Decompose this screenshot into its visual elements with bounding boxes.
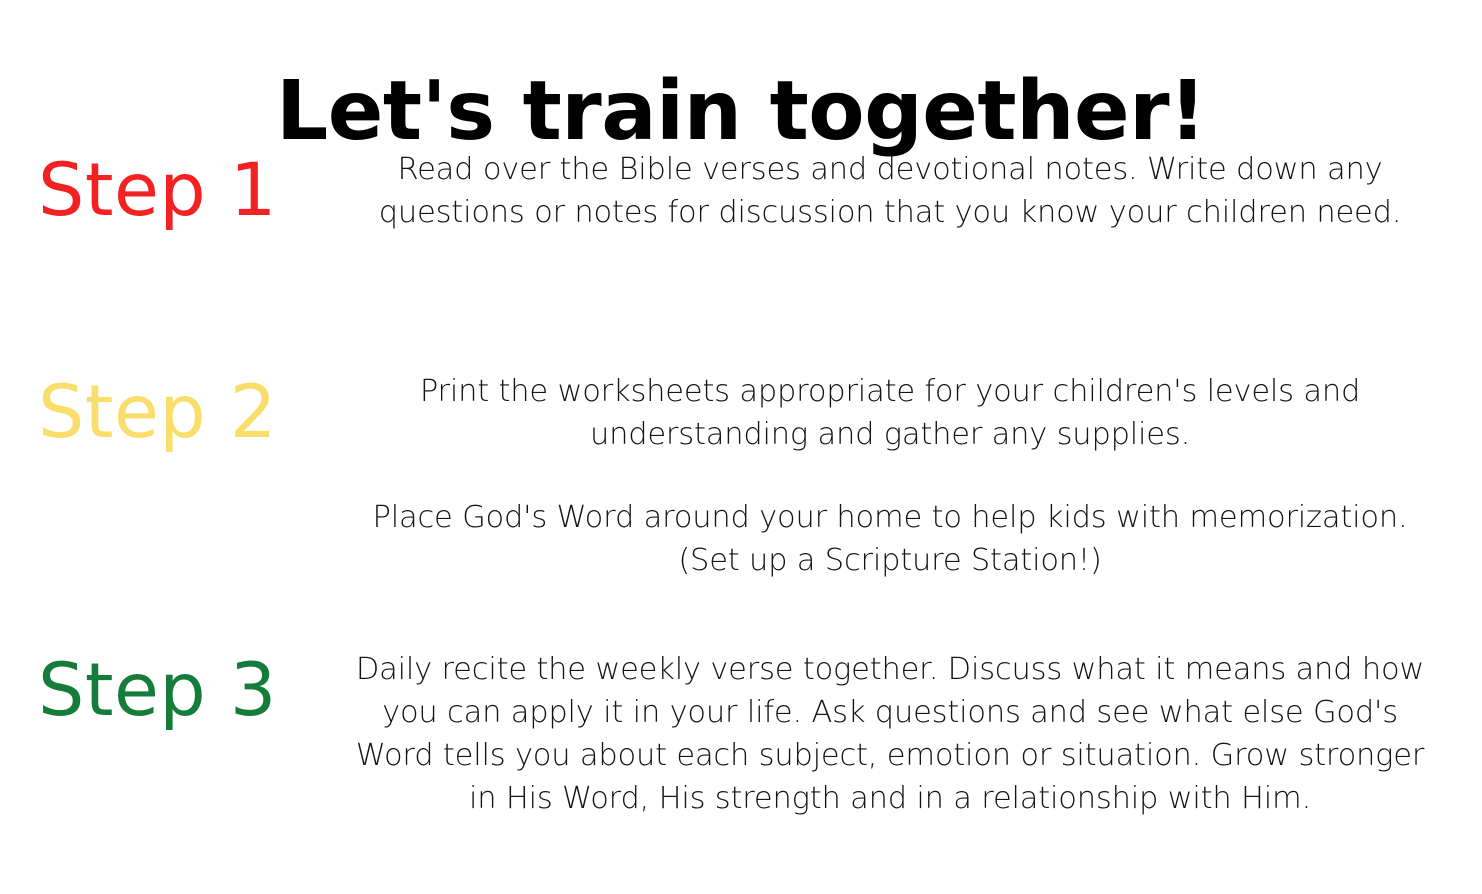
step-row-2: Step 2 Print the worksheets appropriate … <box>0 370 1482 582</box>
step-row-1: Step 1 Read over the Bible verses and de… <box>0 148 1482 234</box>
step-3-body: Daily recite the weekly verse together. … <box>340 648 1482 820</box>
step-2-label: Step 2 <box>38 376 340 449</box>
step-1-body: Read over the Bible verses and devotiona… <box>340 148 1482 234</box>
step-1-label-cell: Step 1 <box>0 148 340 227</box>
step-2-paragraph-2: Place God's Word around your home to hel… <box>340 496 1440 582</box>
step-3-label: Step 3 <box>38 654 340 727</box>
step-1-label: Step 1 <box>38 154 340 227</box>
step-3-paragraph-1: Daily recite the weekly verse together. … <box>340 648 1440 820</box>
step-2-body: Print the worksheets appropriate for you… <box>340 370 1482 582</box>
step-2-paragraph-1: Print the worksheets appropriate for you… <box>340 370 1440 456</box>
step-1-paragraph-1: Read over the Bible verses and devotiona… <box>340 148 1440 234</box>
step-row-3: Step 3 Daily recite the weekly verse tog… <box>0 648 1482 820</box>
step-2-label-cell: Step 2 <box>0 370 340 449</box>
instructions-poster: Let's train together! Step 1 Read over t… <box>0 0 1482 894</box>
page-title: Let's train together! <box>0 69 1482 156</box>
step-3-label-cell: Step 3 <box>0 648 340 727</box>
